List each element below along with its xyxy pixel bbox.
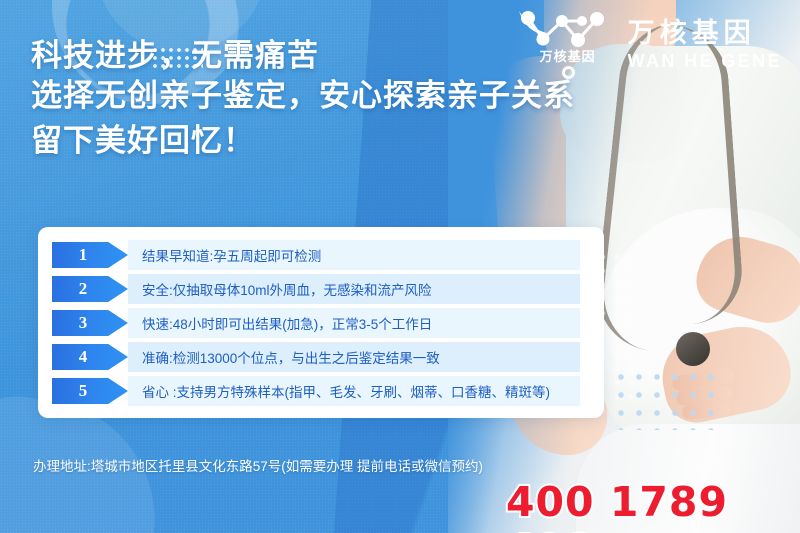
headline-line-1: 科技进步，无需痛苦 (31, 38, 575, 74)
row-number: 2 (79, 279, 88, 299)
logo-ring-icon (562, 66, 575, 79)
row-number: 1 (79, 245, 88, 265)
brand-name-en: WAN HE GENE (628, 52, 782, 70)
feature-card: 1 结果早知道:孕五周起即可检测 2 安全:仅抽取母体10ml外周血，无感染和流… (38, 227, 604, 418)
list-item: 3 快速:48小时即可出结果(加急)，正常3-5个工作日 (38, 308, 604, 338)
dot-pattern-decoration (612, 368, 720, 430)
row-number-badge: 1 (52, 242, 128, 268)
headline-dot-decoration (151, 46, 203, 72)
row-text: 安全:仅抽取母体10ml外周血，无感染和流产风险 (142, 279, 432, 299)
list-item: 2 安全:仅抽取母体10ml外周血，无感染和流产风险 (38, 274, 604, 304)
list-item: 1 结果早知道:孕五周起即可检测 (38, 240, 604, 270)
row-number: 5 (79, 381, 88, 401)
headline-block: 科技进步，无需痛苦 选择无创亲子鉴定，安心探索亲子关系 留下美好回忆！ (31, 38, 575, 164)
address-text: 办理地址:塔城市地区托里县文化东路57号(如需要办理 提前电话或微信预约) (33, 455, 483, 475)
phone-number[interactable]: 400 1789 498 (506, 478, 800, 533)
feature-row-list: 1 结果早知道:孕五周起即可检测 2 安全:仅抽取母体10ml外周血，无感染和流… (38, 240, 604, 410)
logo-mark-label: 万核基因 (522, 46, 614, 65)
row-text: 快速:48小时即可出结果(加急)，正常3-5个工作日 (142, 313, 432, 333)
row-number-badge: 5 (52, 378, 128, 404)
headline-line-3: 留下美好回忆！ (31, 119, 575, 164)
promo-poster: 万核基因 万核基因 WAN HE GENE 科技进步，无需痛苦 选择无创亲子鉴定… (0, 0, 800, 533)
row-text: 省心 :支持男方特殊样本(指甲、毛发、牙刷、烟蒂、口香糖、精斑等) (142, 381, 550, 401)
row-number: 4 (79, 347, 88, 367)
row-text: 准确:检测13000个位点，与出生之后鉴定结果一致 (142, 347, 440, 367)
logo-swoosh-icon (516, 8, 550, 38)
list-item: 4 准确:检测13000个位点，与出生之后鉴定结果一致 (38, 342, 604, 372)
row-number-badge: 4 (52, 344, 128, 370)
brand-logo: 万核基因 万核基因 WAN HE GENE (516, 8, 782, 82)
row-number-badge: 2 (52, 276, 128, 302)
row-number: 3 (79, 313, 88, 333)
brand-name-cn: 万核基因 (628, 20, 782, 47)
headline-line-2: 选择无创亲子鉴定，安心探索亲子关系 (31, 74, 575, 119)
list-item: 5 省心 :支持男方特殊样本(指甲、毛发、牙刷、烟蒂、口香糖、精斑等) (38, 376, 604, 406)
brand-name-block: 万核基因 WAN HE GENE (628, 20, 782, 70)
row-text: 结果早知道:孕五周起即可检测 (142, 245, 321, 265)
molecule-node-icon: 万核基因 (516, 8, 620, 82)
row-number-badge: 3 (52, 310, 128, 336)
